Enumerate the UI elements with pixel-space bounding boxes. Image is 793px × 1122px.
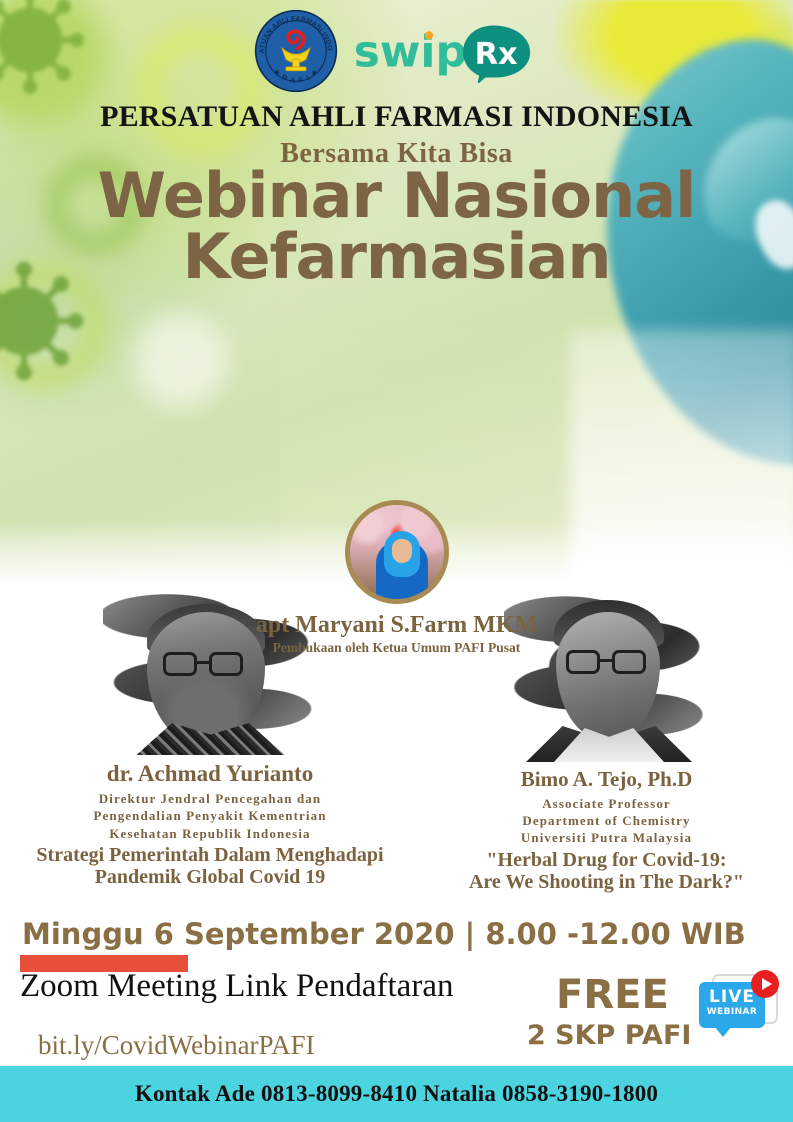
webinar-poster: PERSATUAN AHLI FARMASI INDONESIA ★ P A F… — [0, 0, 793, 1122]
affiliation-line: Associate Professor — [420, 795, 793, 812]
play-icon — [751, 970, 779, 998]
contact-text: Kontak Ade 0813-8099-8410 Natalia 0858-3… — [135, 1081, 658, 1107]
topic-line: Pandemik Global Covid 19 — [0, 866, 420, 888]
swiperx-logo-icon: swipe Rx — [352, 20, 540, 83]
speaker-center-name: apt Maryani S.Farm MKM — [0, 612, 793, 639]
price-label: FREE — [556, 972, 669, 1018]
topic-line: Strategi Pemerintah Dalam Menghadapi — [0, 844, 420, 866]
affiliation-line: Universiti Putra Malaysia — [420, 829, 793, 846]
registration-label: Zoom Meeting Link Pendaftaran — [20, 968, 453, 1005]
topic-line: "Herbal Drug for Covid-19: — [420, 849, 793, 871]
pafi-logo-icon: PERSATUAN AHLI FARMASI INDONESIA ★ P A F… — [254, 9, 338, 93]
speaker-right-topic: "Herbal Drug for Covid-19: Are We Shooti… — [420, 849, 793, 894]
speaker-left-topic: Strategi Pemerintah Dalam Menghadapi Pan… — [0, 844, 420, 889]
badge-speech-tail — [714, 1026, 732, 1037]
speaker-left-name: dr. Achmad Yurianto — [0, 761, 420, 786]
speaker-center-role: Pembukaan oleh Ketua Umum PAFI Pusat — [0, 640, 793, 656]
topic-line: Are We Shooting in The Dark?" — [420, 871, 793, 893]
title-line-2: Kefarmasian — [0, 227, 793, 288]
speaker-center: apt Maryani S.Farm MKM Pembukaan oleh Ke… — [0, 500, 793, 656]
event-date-time: Minggu 6 September 2020 | 8.00 -12.00 WI… — [22, 917, 746, 951]
badge-webinar-text: WEBINAR — [699, 1007, 765, 1017]
affiliation-line: Kesehatan Republik Indonesia — [0, 825, 420, 842]
page-title: Webinar Nasional Kefarmasian — [0, 166, 793, 288]
logo-row: PERSATUAN AHLI FARMASI INDONESIA ★ P A F… — [0, 8, 793, 94]
affiliation-line: Direktur Jendral Pencegahan dan — [0, 790, 420, 807]
speaker-left-affiliation: Direktur Jendral Pencegahan dan Pengenda… — [0, 790, 420, 841]
credits-label: 2 SKP PAFI — [527, 1020, 691, 1051]
speaker-right-name: Bimo A. Tejo, Ph.D — [420, 768, 793, 791]
speaker-right-affiliation: Associate Professor Department of Chemis… — [420, 795, 793, 846]
affiliation-line: Department of Chemistry — [420, 812, 793, 829]
svg-text:Rx: Rx — [474, 37, 517, 72]
registration-link[interactable]: bit.ly/CovidWebinarPAFI — [38, 1030, 315, 1061]
eyeglasses-bridge — [600, 659, 612, 662]
affiliation-line: Pengendalian Penyakit Kementrian — [0, 807, 420, 824]
avatar — [345, 500, 449, 604]
live-webinar-badge: LIVE WEBINAR — [696, 972, 784, 1038]
contact-bar: Kontak Ade 0813-8099-8410 Natalia 0858-3… — [0, 1066, 793, 1122]
bokeh-circle — [120, 300, 240, 420]
eyeglasses-bridge — [197, 661, 209, 664]
organization-title: PERSATUAN AHLI FARMASI INDONESIA — [0, 100, 793, 134]
